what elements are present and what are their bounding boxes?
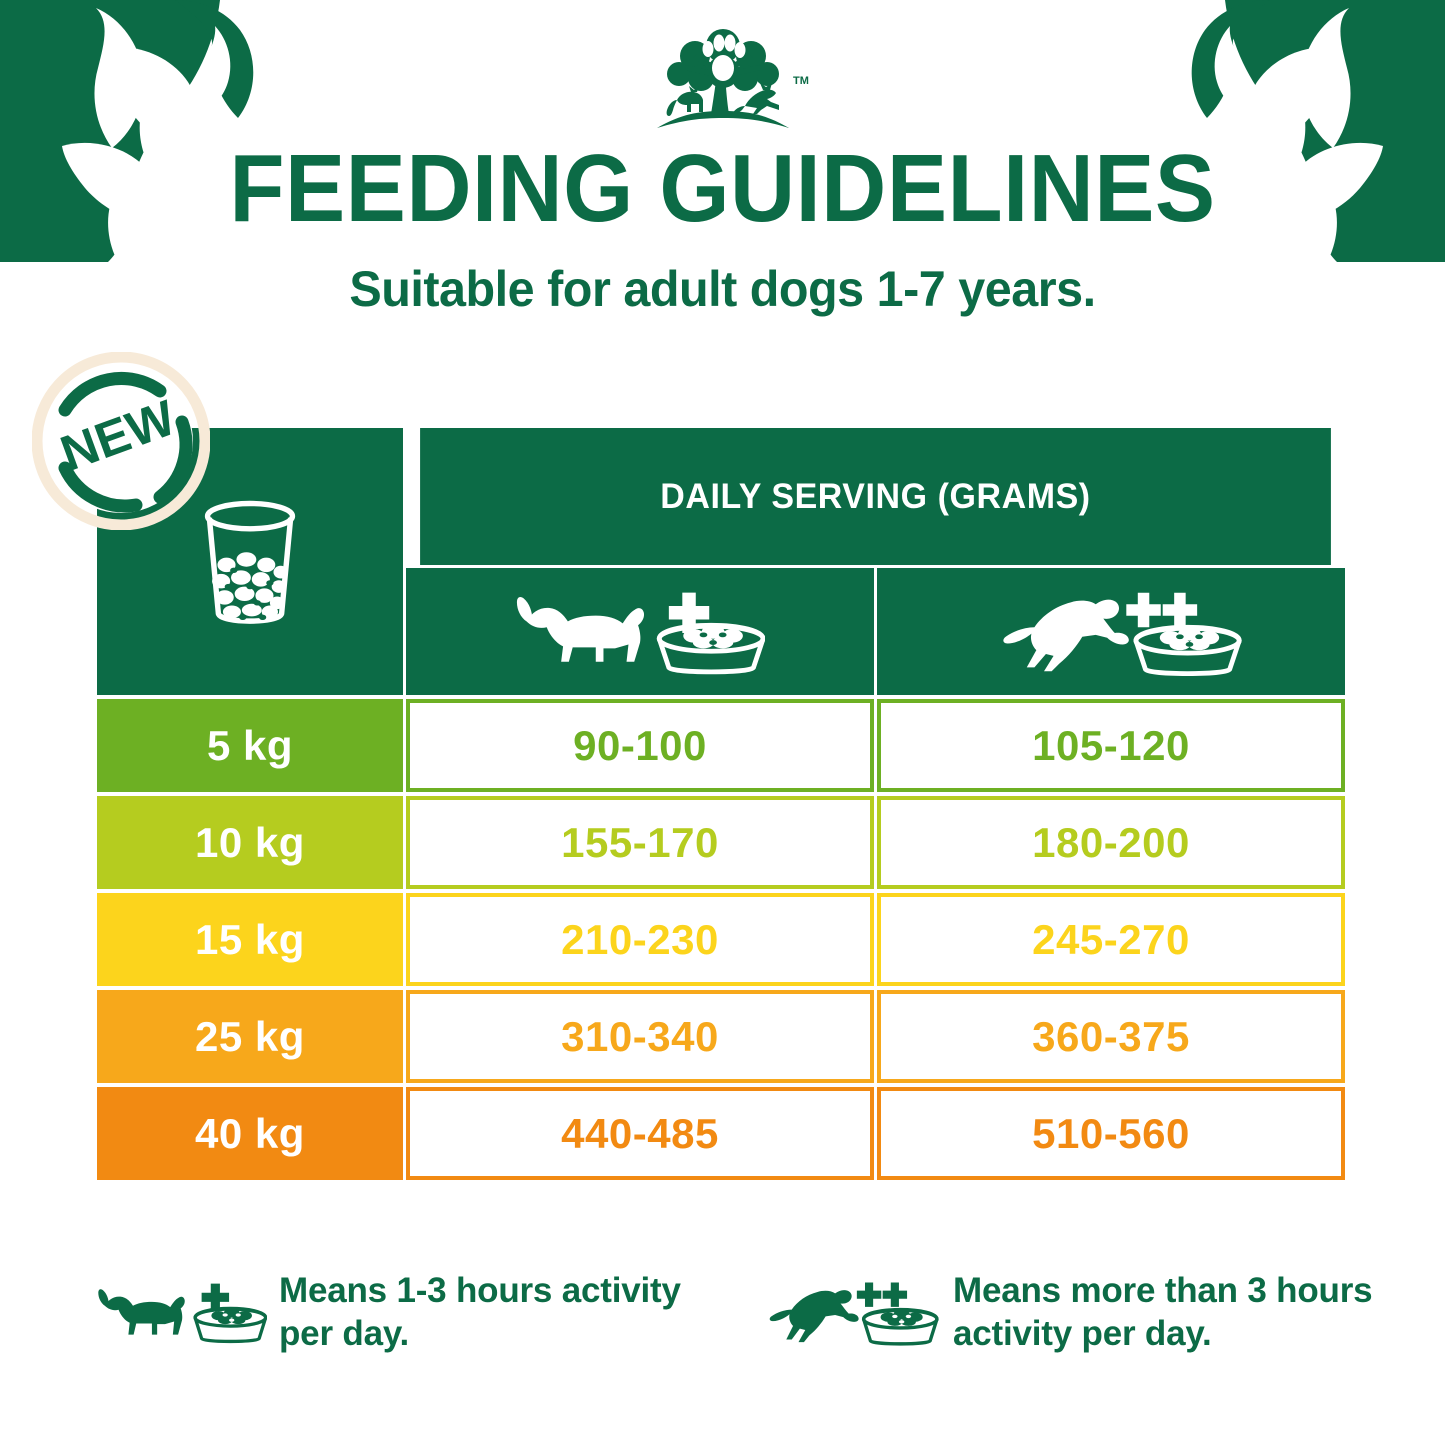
measuring-cup-icon: [194, 494, 306, 634]
legend: Means 1-3 hours activity per day.: [97, 1258, 1387, 1368]
table-header-right: DAILY SERVING (GRAMS): [406, 428, 1345, 695]
serving-high-activity: 510-560: [877, 1087, 1345, 1180]
serving-low-activity: 210-230: [406, 893, 874, 986]
weight-label: 40 kg: [195, 1110, 305, 1158]
weight-label: 25 kg: [195, 1013, 305, 1061]
brand-logo: TM: [633, 22, 813, 140]
legend-text-low-activity: Means 1-3 hours activity per day.: [279, 1270, 709, 1355]
daily-serving-header: DAILY SERVING (GRAMS): [420, 428, 1331, 565]
weight-label: 10 kg: [195, 819, 305, 867]
leaping-dog-bowl-icon: [751, 1258, 941, 1368]
leaping-dog-bowl-icon: [977, 579, 1245, 685]
serving-low-activity: 155-170: [406, 796, 874, 889]
value-cells: 155-170 180-200: [406, 796, 1345, 889]
new-badge: NEW: [32, 352, 210, 530]
serving-high-activity: 180-200: [877, 796, 1345, 889]
weight-label: 15 kg: [195, 916, 305, 964]
legend-item-high-activity: Means more than 3 hours activity per day…: [751, 1258, 1387, 1368]
legend-text-high-activity: Means more than 3 hours activity per day…: [953, 1270, 1383, 1355]
column-header-high-activity: [877, 568, 1345, 695]
weight-cell: 25 kg: [97, 990, 403, 1083]
value-cells: 90-100 105-120: [406, 699, 1345, 792]
value-cells: 210-230 245-270: [406, 893, 1345, 986]
table-row: 5 kg 90-100 105-120: [97, 699, 1345, 792]
table-row: 40 kg 440-485 510-560: [97, 1087, 1345, 1180]
feeding-table: DAILY SERVING (GRAMS): [97, 428, 1345, 1180]
weight-cell: 10 kg: [97, 796, 403, 889]
value-cells: 310-340 360-375: [406, 990, 1345, 1083]
weight-cell: 5 kg: [97, 699, 403, 792]
weight-label: 5 kg: [207, 722, 293, 770]
column-header-low-activity: [406, 568, 874, 695]
page-title: FEEDING GUIDELINES: [43, 140, 1401, 238]
activity-icon-row: [406, 568, 1345, 695]
serving-low-activity: 310-340: [406, 990, 874, 1083]
weight-cell: 40 kg: [97, 1087, 403, 1180]
serving-low-activity: 90-100: [406, 699, 874, 792]
table-row: 25 kg 310-340 360-375: [97, 990, 1345, 1083]
table-row: 15 kg 210-230 245-270: [97, 893, 1345, 986]
serving-high-activity: 360-375: [877, 990, 1345, 1083]
page-subtitle: Suitable for adult dogs 1-7 years.: [22, 260, 1424, 318]
standing-dog-bowl-icon: [515, 579, 765, 685]
serving-high-activity: 245-270: [877, 893, 1345, 986]
serving-high-activity: 105-120: [877, 699, 1345, 792]
trademark-mark: TM: [793, 75, 809, 87]
value-cells: 440-485 510-560: [406, 1087, 1345, 1180]
table-header: DAILY SERVING (GRAMS): [97, 428, 1345, 695]
page-title-block: FEEDING GUIDELINES Suitable for adult do…: [0, 140, 1445, 318]
plus-plus-marker-icon: [1126, 592, 1197, 626]
plus-plus-marker-icon: [857, 1282, 907, 1306]
weight-cell: 15 kg: [97, 893, 403, 986]
serving-low-activity: 440-485: [406, 1087, 874, 1180]
legend-item-low-activity: Means 1-3 hours activity per day.: [97, 1258, 733, 1368]
standing-dog-bowl-icon: [97, 1258, 267, 1368]
table-row: 10 kg 155-170 180-200: [97, 796, 1345, 889]
